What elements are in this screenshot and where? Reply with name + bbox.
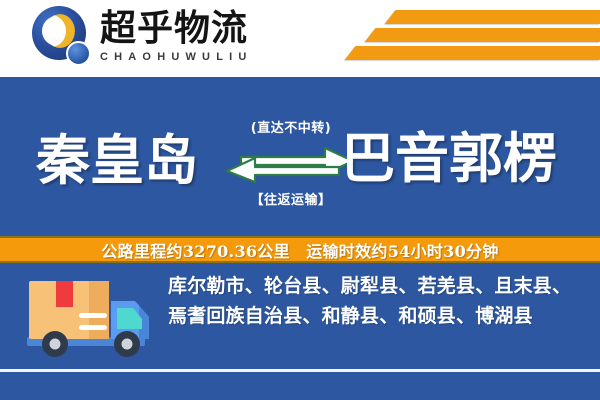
route-row: 秦皇岛 (直达不中转) 【往返运输】 巴音郭楞 xyxy=(0,117,600,237)
coverage-area-section: 库尔勒市、轮台县、尉犁县、若羌县、且末县、焉耆回族自治县、和静县、和硕县、博湖县 xyxy=(0,267,600,370)
brand-name-cn: 超乎物流 xyxy=(100,8,253,48)
direct-shipping-note: (直达不中转) xyxy=(231,117,351,136)
route-arrow-group: (直达不中转) 【往返运输】 xyxy=(225,117,355,227)
round-trip-note: 【往返运输】 xyxy=(231,189,351,208)
logistics-route-banner: 超乎物流 CHAOHUWULIU 秦皇岛 (直达不中转) 【往返运输】 xyxy=(0,0,600,400)
distance-duration-bar: 公路里程约3270.36公里 运输时效约54小时30分钟 xyxy=(0,236,600,263)
banner-header: 超乎物流 CHAOHUWULIU xyxy=(0,0,600,77)
orange-diagonal-stripe xyxy=(365,28,600,42)
brand-name-en: CHAOHUWULIU xyxy=(100,50,253,64)
footer-divider xyxy=(0,369,600,372)
coverage-area-list: 库尔勒市、轮台县、尉犁县、若羌县、且末县、焉耆回族自治县、和静县、和硕县、博湖县 xyxy=(168,271,580,331)
orange-diagonal-stripe xyxy=(385,10,600,24)
distance-duration-text: 公路里程约3270.36公里 运输时效约54小时30分钟 xyxy=(101,238,498,262)
double-headed-arrow-icon xyxy=(225,142,355,184)
logo-accent-dot xyxy=(66,41,91,66)
destination-city-name: 巴音郭楞 xyxy=(341,129,557,187)
circle-crescent-logo-icon xyxy=(30,4,92,66)
orange-diagonal-stripe xyxy=(345,46,600,60)
brand-logo: 超乎物流 CHAOHUWULIU xyxy=(30,4,253,66)
brand-wordmark: 超乎物流 CHAOHUWULIU xyxy=(100,4,253,64)
main-blue-panel: 秦皇岛 (直达不中转) 【往返运输】 巴音郭楞 公路里程约3270.36公里 运… xyxy=(0,77,600,400)
origin-city-name: 秦皇岛 xyxy=(36,131,198,189)
delivery-truck-icon xyxy=(23,275,158,367)
